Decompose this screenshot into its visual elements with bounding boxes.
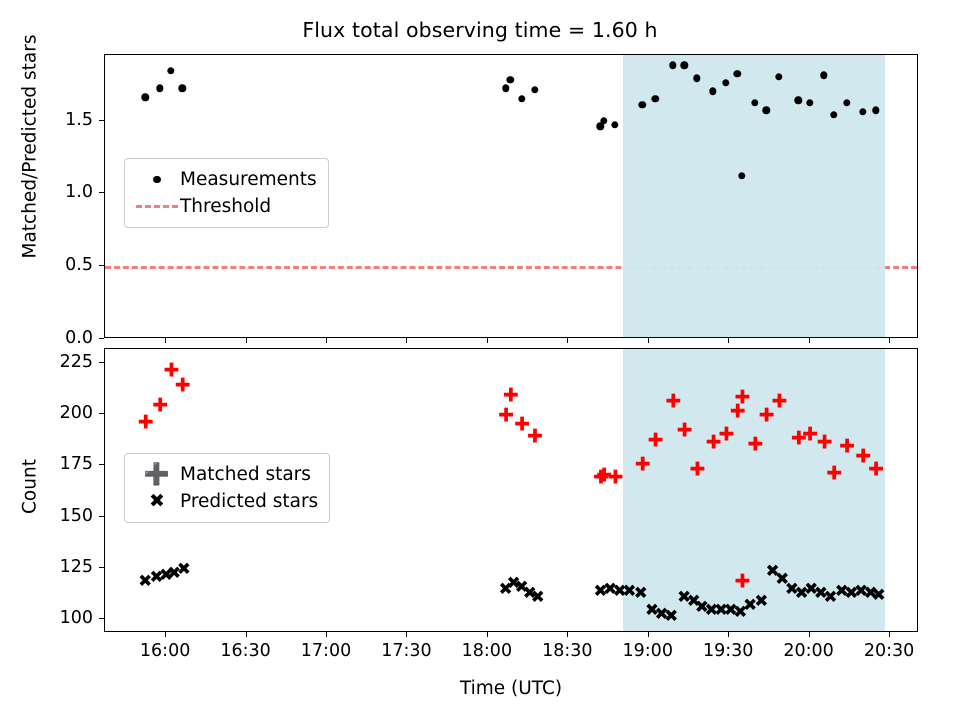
y-tick-label: 175 [8,454,93,474]
x-tick-mark [165,632,166,637]
data-point-measurements [179,85,186,92]
x-tick-mark [809,338,810,343]
data-point-predicted-stars: ✖ [514,581,529,596]
x-tick-mark [487,632,488,637]
data-point-matched-stars: ✚ [175,378,190,393]
x-tick-mark [406,338,407,343]
x-tick-mark [809,632,810,637]
y-tick-mark [99,265,104,266]
count-panel-y-axis-label: Count [20,397,41,577]
x-tick-label: 16:00 [140,641,190,661]
x-tick-mark [487,338,488,343]
data-point-measurements [531,86,538,93]
y-tick-label: 225 [8,352,93,372]
data-point-predicted-stars: ✖ [593,585,608,600]
data-point-matched-stars: ✚ [527,429,542,444]
data-point-matched-stars: ✚ [138,415,153,430]
y-tick-label: 1.5 [8,110,93,130]
data-point-predicted-stars: ✖ [149,570,164,585]
x-tick-mark [326,338,327,343]
data-point-measurements [142,94,149,101]
ratio-panel-legend: Measurements Threshold [124,158,329,228]
y-tick-mark [99,192,104,193]
x-tick-mark [648,338,649,343]
legend-label-measurements: Measurements [180,169,317,190]
data-point-predicted-stars: ✖ [498,583,513,598]
shaded-time-span [623,349,885,631]
y-tick-mark [99,567,104,568]
data-point-predicted-stars: ✖ [603,583,618,598]
y-tick-label: 200 [8,403,93,423]
plus-marker-icon: ➕ [134,464,180,485]
data-point-measurements [502,85,509,92]
data-point-measurements [156,85,163,92]
legend-item-threshold: Threshold [134,193,317,220]
data-point-matched-stars: ✚ [163,364,178,379]
x-tick-mark [165,338,166,343]
y-tick-label: 0.0 [8,328,93,348]
page-title: Flux total observing time = 1.60 h [0,18,960,42]
data-point-measurements [611,121,618,128]
y-tick-mark [99,413,104,414]
y-tick-mark [99,516,104,517]
x-tick-label: 18:00 [462,641,512,661]
shaded-time-span [623,55,885,337]
x-tick-mark [246,632,247,637]
legend-item-matched-stars: ➕ Matched stars [134,461,318,488]
data-point-predicted-stars: ✖ [159,568,174,583]
legend-label-threshold: Threshold [180,196,271,217]
dot-marker-icon [134,176,180,183]
x-tick-mark [326,632,327,637]
x-tick-label: 17:30 [381,641,431,661]
data-point-matched-stars: ✚ [596,468,611,483]
data-point-measurements [518,95,525,102]
x-tick-mark [648,632,649,637]
x-tick-mark [728,632,729,637]
y-tick-label: 125 [8,557,93,577]
ratio-panel-y-axis-label: Matched/Predicted stars [20,0,41,297]
y-tick-label: 100 [8,608,93,628]
data-point-predicted-stars: ✖ [167,566,182,581]
x-tick-label: 20:00 [783,641,833,661]
data-point-measurements [507,76,514,83]
x-tick-mark [246,338,247,343]
data-point-matched-stars: ✚ [514,417,529,432]
x-tick-mark [567,338,568,343]
count-panel-legend: ➕ Matched stars ✖ Predicted stars [124,453,330,523]
x-tick-label: 19:30 [703,641,753,661]
x-axis-label: Time (UTC) [104,678,918,699]
y-tick-mark [99,464,104,465]
data-point-matched-stars: ✚ [152,399,167,414]
x-tick-mark [567,632,568,637]
data-point-predicted-stars: ✖ [506,576,521,591]
data-point-predicted-stars: ✖ [530,591,545,606]
data-point-measurements [600,117,607,124]
x-tick-mark [406,632,407,637]
x-tick-label: 18:30 [542,641,592,661]
cross-marker-icon: ✖ [134,492,180,511]
data-point-predicted-stars: ✖ [522,587,537,602]
x-tick-label: 20:30 [864,641,914,661]
x-tick-mark [728,338,729,343]
data-point-measurements [167,67,174,74]
dashed-line-icon [134,205,180,208]
y-tick-label: 1.0 [8,182,93,202]
data-point-predicted-stars: ✖ [176,562,191,577]
x-tick-label: 16:30 [220,641,270,661]
legend-item-predicted-stars: ✖ Predicted stars [134,488,318,515]
legend-item-measurements: Measurements [134,166,317,193]
x-tick-mark [889,632,890,637]
legend-label-matched-stars: Matched stars [180,464,311,485]
data-point-predicted-stars: ✖ [138,574,153,589]
data-point-matched-stars: ✚ [607,470,622,485]
x-tick-mark [889,338,890,343]
x-tick-label: 17:00 [301,641,351,661]
data-point-matched-stars: ✚ [498,409,513,424]
y-tick-label: 0.5 [8,255,93,275]
legend-label-predicted-stars: Predicted stars [180,491,318,512]
data-point-matched-stars: ✚ [503,388,518,403]
y-tick-mark [99,120,104,121]
y-tick-mark [99,618,104,619]
y-tick-label: 150 [8,506,93,526]
figure-canvas: Flux total observing time = 1.60 h Match… [0,0,960,720]
x-tick-label: 19:00 [623,641,673,661]
data-point-measurements [597,123,604,130]
y-tick-mark [99,362,104,363]
data-point-matched-stars: ✚ [593,470,608,485]
y-tick-mark [99,338,104,339]
